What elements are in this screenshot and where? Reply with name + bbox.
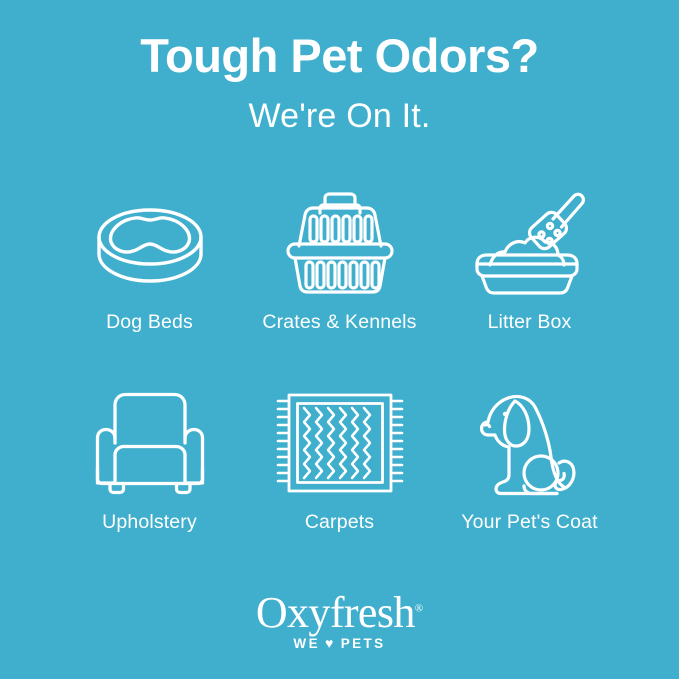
grid-item-label: Carpets	[305, 511, 374, 534]
grid-item-label: Your Pet's Coat	[461, 511, 597, 534]
brand-logo: Oxyfresh® WE ♥ PETS	[0, 591, 679, 651]
registered-trademark-icon: ®	[415, 602, 423, 614]
grid-item-label: Dog Beds	[106, 311, 193, 334]
promo-poster: Tough Pet Odors? We're On It. Dog Beds	[0, 0, 679, 679]
grid-item-crates-kennels: Crates & Kennels	[245, 180, 435, 380]
grid-item-upholstery: Upholstery	[55, 380, 245, 580]
grid-item-dog-beds: Dog Beds	[55, 180, 245, 380]
grid-item-label: Upholstery	[102, 511, 197, 534]
logo-wordmark-text: Oxyfresh	[256, 588, 415, 637]
logo-tagline-we: WE	[293, 636, 320, 651]
litter-box-icon	[469, 180, 591, 305]
sitting-dog-icon	[471, 380, 589, 505]
logo-wordmark: Oxyfresh®	[256, 591, 423, 635]
logo-tagline: WE ♥ PETS	[293, 636, 385, 651]
poster-header: Tough Pet Odors? We're On It.	[0, 0, 679, 136]
carpet-rug-icon	[276, 380, 404, 505]
grid-item-litter-box: Litter Box	[435, 180, 625, 380]
dog-bed-icon	[94, 180, 206, 305]
pet-crate-icon	[281, 180, 399, 305]
page-title: Tough Pet Odors?	[0, 30, 679, 82]
heart-icon: ♥	[325, 636, 336, 650]
grid-item-pet-coat: Your Pet's Coat	[435, 380, 625, 580]
feature-grid: Dog Beds	[55, 180, 625, 580]
grid-item-carpets: Carpets	[245, 380, 435, 580]
armchair-icon	[95, 380, 205, 505]
grid-item-label: Crates & Kennels	[262, 311, 416, 334]
logo-tagline-pets: PETS	[341, 636, 386, 651]
page-subtitle: We're On It.	[0, 96, 679, 137]
grid-item-label: Litter Box	[488, 311, 572, 334]
